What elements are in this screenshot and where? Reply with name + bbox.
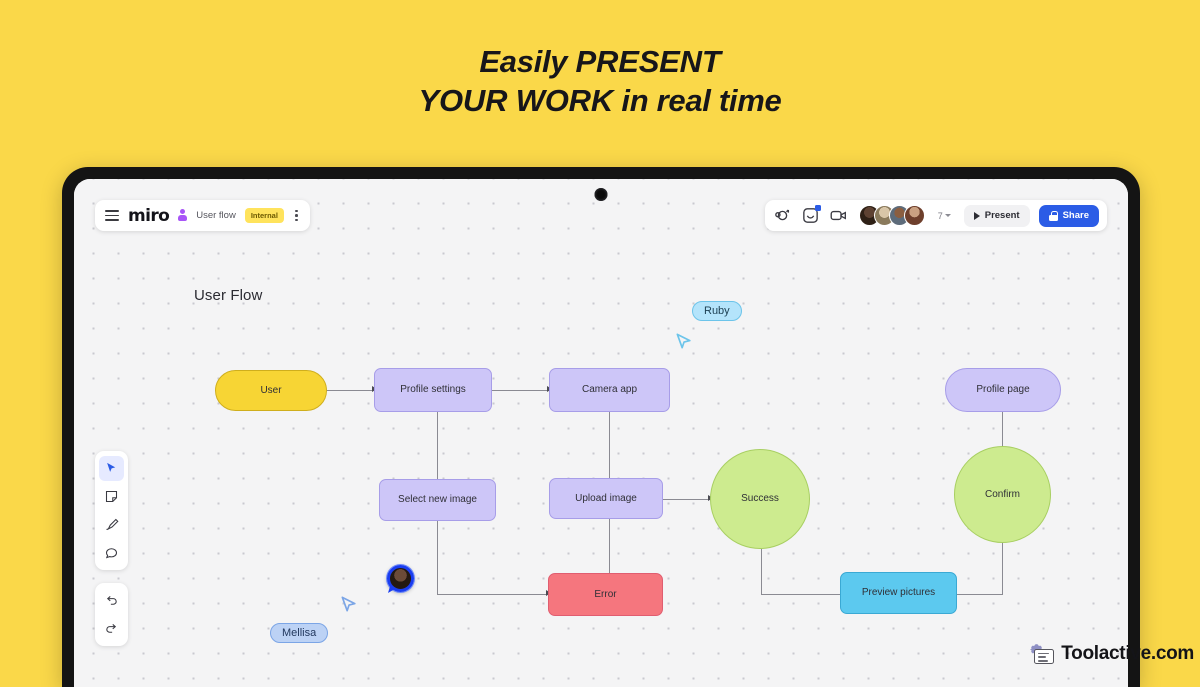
- flow-node-preview-pictures[interactable]: Preview pictures: [840, 572, 957, 614]
- headline-text-easily: Easily: [479, 44, 575, 79]
- chevron-down-icon: [945, 214, 951, 217]
- flow-node-upload-image[interactable]: Upload image: [549, 478, 663, 519]
- flow-node-user[interactable]: User: [215, 370, 327, 411]
- cursor-pointer-mellisa: [339, 594, 359, 614]
- flow-node-label: Preview pictures: [862, 587, 935, 599]
- board-header-bar: miro User flow Internal: [95, 200, 310, 231]
- cursor-label-ruby: Ruby: [692, 301, 742, 321]
- cursor-pointer-ruby: [674, 331, 694, 351]
- watermark-text: Toolactive.com: [1061, 643, 1194, 665]
- flow-node-camera-app[interactable]: Camera app: [549, 368, 670, 412]
- undo-tool[interactable]: [99, 588, 124, 613]
- present-button-label: Present: [985, 210, 1020, 221]
- tool-rail: [95, 451, 128, 570]
- flow-node-confirm[interactable]: Confirm: [954, 446, 1051, 543]
- kebab-menu-icon[interactable]: [293, 208, 300, 224]
- headline-line-1: Easily PRESENT: [0, 42, 1200, 81]
- flow-node-profile-page[interactable]: Profile page: [945, 368, 1061, 412]
- sticky-note-tool[interactable]: [99, 484, 124, 509]
- flow-node-label: Error: [594, 589, 616, 601]
- connector-upload-image-success: [663, 499, 711, 500]
- flow-node-label: Upload image: [575, 493, 637, 505]
- sticker-reaction-icon[interactable]: [801, 206, 820, 225]
- miro-logo[interactable]: miro: [128, 206, 169, 226]
- pen-tool[interactable]: [99, 512, 124, 537]
- flow-node-select-new-image[interactable]: Select new image: [379, 479, 496, 521]
- headline-text-present: PRESENT: [576, 44, 721, 79]
- timer-sync-icon[interactable]: [773, 206, 792, 225]
- collaborator-count[interactable]: 7: [938, 211, 951, 221]
- connector-profile-settings-camera-app: [491, 390, 550, 391]
- connector-camera-app-upload-image: [609, 408, 610, 486]
- flow-node-label: Camera app: [582, 384, 637, 396]
- tablet-device-frame: miro User flow Internal: [62, 167, 1140, 687]
- notification-dot: [815, 205, 821, 211]
- comment-tool[interactable]: [99, 540, 124, 565]
- collaborator-count-value: 7: [938, 211, 943, 221]
- board-title[interactable]: User Flow: [194, 287, 262, 304]
- connector-select-new-image-corner: [437, 521, 438, 595]
- headline-line-2: YOUR WORK in real time: [0, 81, 1200, 120]
- play-icon: [974, 212, 980, 220]
- person-icon: [178, 209, 187, 222]
- status-badge: Internal: [245, 208, 284, 223]
- connector-success-preview-pictures: [761, 594, 843, 595]
- flow-node-label: Profile settings: [400, 384, 466, 396]
- history-rail: [95, 583, 128, 646]
- lock-icon: [1049, 211, 1058, 221]
- gear-document-icon: [1028, 641, 1058, 667]
- headline-text-in-real-time: in real time: [613, 83, 781, 118]
- flow-node-error[interactable]: Error: [548, 573, 663, 616]
- page-headline: Easily PRESENT YOUR WORK in real time: [0, 42, 1200, 120]
- flow-node-success[interactable]: Success: [710, 449, 810, 549]
- share-button-label: Share: [1063, 210, 1089, 221]
- front-camera-icon: [595, 188, 608, 201]
- hamburger-icon[interactable]: [105, 210, 119, 221]
- cursor-label-mellisa: Mellisa: [270, 623, 328, 643]
- connector-user-profile-settings: [326, 390, 375, 391]
- connector-select-new-image-error: [437, 594, 549, 595]
- document-icon: [1034, 649, 1054, 664]
- connector-confirm-profile-page: [1002, 408, 1003, 450]
- cursor-tool[interactable]: [99, 456, 124, 481]
- redo-tool[interactable]: [99, 616, 124, 641]
- board-name-label[interactable]: User flow: [196, 210, 236, 221]
- present-button[interactable]: Present: [964, 205, 1030, 227]
- flow-node-label: User: [260, 385, 281, 397]
- share-button[interactable]: Share: [1039, 205, 1099, 227]
- collaborator-cursor-avatar[interactable]: [387, 565, 414, 592]
- flow-node-label: Select new image: [398, 494, 477, 506]
- flow-node-label: Success: [741, 493, 779, 505]
- flow-node-label: Confirm: [985, 489, 1020, 501]
- tablet-screen: miro User flow Internal: [74, 179, 1128, 687]
- flow-node-label: Profile page: [976, 384, 1029, 396]
- collaboration-toolbar: 7 Present Share: [765, 200, 1107, 231]
- watermark: Toolactive.com: [1028, 641, 1194, 667]
- video-camera-icon[interactable]: [829, 206, 848, 225]
- collaborator-avatars[interactable]: [859, 205, 925, 226]
- flow-node-profile-settings[interactable]: Profile settings: [374, 368, 492, 412]
- headline-text-your-work: YOUR WORK: [419, 83, 614, 118]
- avatar[interactable]: [904, 205, 925, 226]
